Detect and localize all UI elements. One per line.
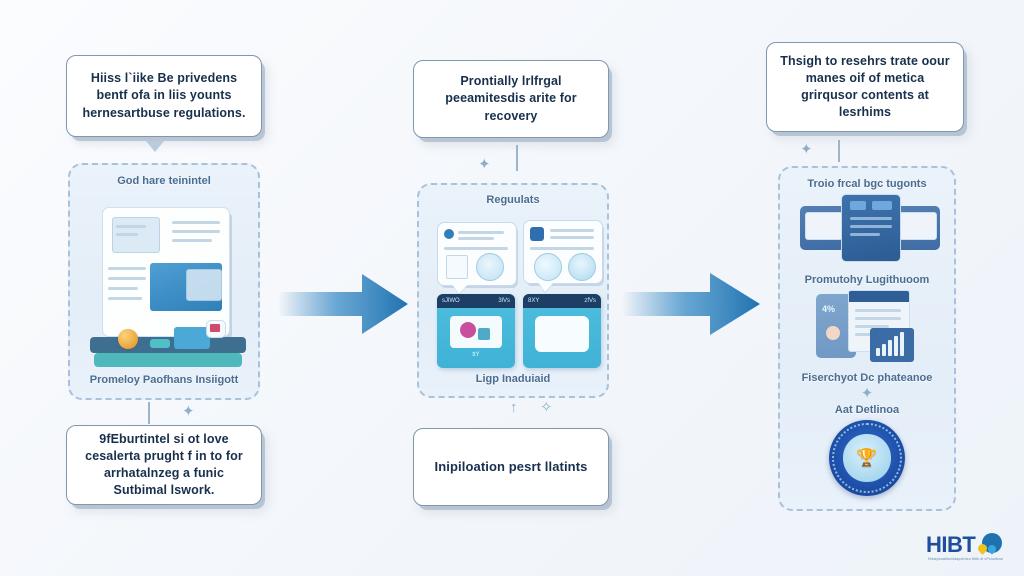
bubble-doc-icon [446,255,468,279]
sparkle-icon: ✦ [800,142,813,157]
doc-card-1-header: sJlWO 3lVs [437,294,515,308]
doc-card-1-header-left: sJlWO [442,298,460,304]
diagram-canvas: Hiiss l`iike Be privedens bentf ofa in l… [0,0,1024,576]
callout-column2-top-text: Prontially lrlfrgal peeamitesdis arite f… [426,73,596,125]
panel-column1: God hare teinintel Promeloy Paof [68,163,260,400]
award-seal-icon: 🏆 [829,420,905,496]
phone-metric: 4% [822,304,835,314]
bubble-line [530,247,594,250]
info-bubble-left [437,222,517,286]
doc-line [116,225,146,228]
doc-card-2-header: 8XY zfVs [523,294,601,308]
panel-column3-caption-top: Troio frcal bgc tugonts [786,178,948,190]
doc-line [108,297,142,300]
report-line [855,317,901,320]
doc-line [172,221,220,224]
info-bubble-right [523,220,603,284]
sparkle-icon: ✦ [478,157,491,172]
doc-card-2: 8XY zfVs [523,294,601,368]
device-box-small [150,339,170,348]
illustration-tablets [786,190,948,268]
bubble-line [458,231,504,234]
doc-card-1-art [450,316,502,348]
doc-card-2-art [535,316,589,352]
panel-column3-caption-bottom: Aat Detlinoa [786,404,948,416]
bubble-line [550,236,594,239]
bubble-avatar-icon [444,229,454,239]
logo-subtext: Hlatcpnoalhtcnldapotntco fhtlk dl cPcnol… [928,557,1003,561]
doc-card-1: sJlWO 3lVs ttY [437,294,515,368]
tablet-right-screen [899,212,937,240]
tablet-center [841,194,901,262]
sparkle-icon: ✧ [540,400,553,415]
bubble-pie-icon [534,253,562,281]
doc-line [108,277,146,280]
doc-card-2-header-right: zfVs [584,298,596,304]
phone-dot-icon [826,326,840,340]
sparkle-icon: ✦ [182,404,195,419]
illustration-regulation-cards: sJlWO 3lVs ttY 8XY zfVs [425,206,601,373]
panel-column2-caption-top: Reguulats [425,194,601,206]
illustration-phone-report: 4% [786,288,948,368]
callout-column3-top-text: Thsigh to resehrs trate oour manes oif o… [779,53,951,122]
report-header [849,291,909,302]
callout-column1-top-text: Hiiss l`iike Be privedens bentf ofa in l… [79,70,249,122]
callout-column1-top: Hiiss l`iike Be privedens bentf ofa in l… [66,55,262,137]
device-box [174,327,210,349]
bubble-chart-icon [476,253,504,281]
doc-line [172,230,220,233]
hibt-logo: HIBT Hlatcpnoalhtcnldapotntco fhtlk dl c… [926,532,1002,558]
bubble-globe-icon [568,253,596,281]
doc-line [108,267,146,270]
doc-window-overlay [186,269,222,301]
callout-column1-bottom: 9fEburtintel si ot love cesalerta prught… [66,425,262,505]
doc-card-1-header-right: 3lVs [498,298,510,304]
callout-column2-bottom-text: Inipiloation pesrt llatints [435,458,588,476]
tablet-center-line [850,225,892,228]
arrow-right-2 [622,266,762,342]
connector-line-column2-top [516,145,518,171]
report-line [855,309,901,312]
callout-column2-bottom: Inipiloation pesrt llatints [413,428,609,506]
doc-line [108,287,138,290]
bubble-line [444,247,508,250]
tablet-left-screen [805,212,843,240]
bubble-line [550,229,594,232]
logo-text: HIBT [926,532,975,558]
illustration-document-desk [76,187,252,374]
callout-column2-top: Prontially lrlfrgal peeamitesdis arite f… [413,60,609,138]
tablet-center-badge [872,201,892,210]
logo-mark-icon [976,533,1002,557]
connector-line-column3-top [838,140,840,162]
doc-card-2-header-left: 8XY [528,298,539,304]
bubble-badge-icon [530,227,544,241]
doc-card-1-footer: ttY [437,352,515,358]
tablet-center-badge [850,201,866,210]
sparkle-icon: ✦ [861,386,874,401]
up-arrow-icon: ↑ [510,400,518,415]
doc-line [172,239,212,242]
panel-column2: Reguulats sJlWO [417,183,609,398]
panel-column1-caption-bottom: Promeloy Paofhans Insiigott [76,374,252,386]
panel-column3-caption-low: Fiserchyot Dc phateanoe [786,372,948,384]
desk-base [94,353,242,367]
connector-line-column1-bottom [148,402,150,424]
arrow-right-1 [278,268,410,340]
tablet-center-line [850,217,892,220]
callout-column3-top: Thsigh to resehrs trate oour manes oif o… [766,42,964,132]
tablet-center-line [850,233,880,236]
doc-line [116,233,138,236]
coin-icon [118,329,138,349]
panel-column3: Troio frcal bgc tugonts Promutohy Lugith… [778,166,956,511]
callout-column1-bottom-text: 9fEburtintel si ot love cesalerta prught… [79,431,249,500]
seal-rays [832,423,902,493]
stamp-glyph [210,324,220,332]
panel-column2-caption-bottom: Ligp Inaduiaid [425,373,601,385]
panel-column1-caption-top: God hare teinintel [76,175,252,187]
connector-triangle-column1 [146,141,164,152]
tablet-left [800,206,846,250]
bubble-line [458,237,494,240]
panel-column3-caption-mid: Promutohy Lugithuoom [786,274,948,286]
bar-chart-icon [870,328,914,362]
